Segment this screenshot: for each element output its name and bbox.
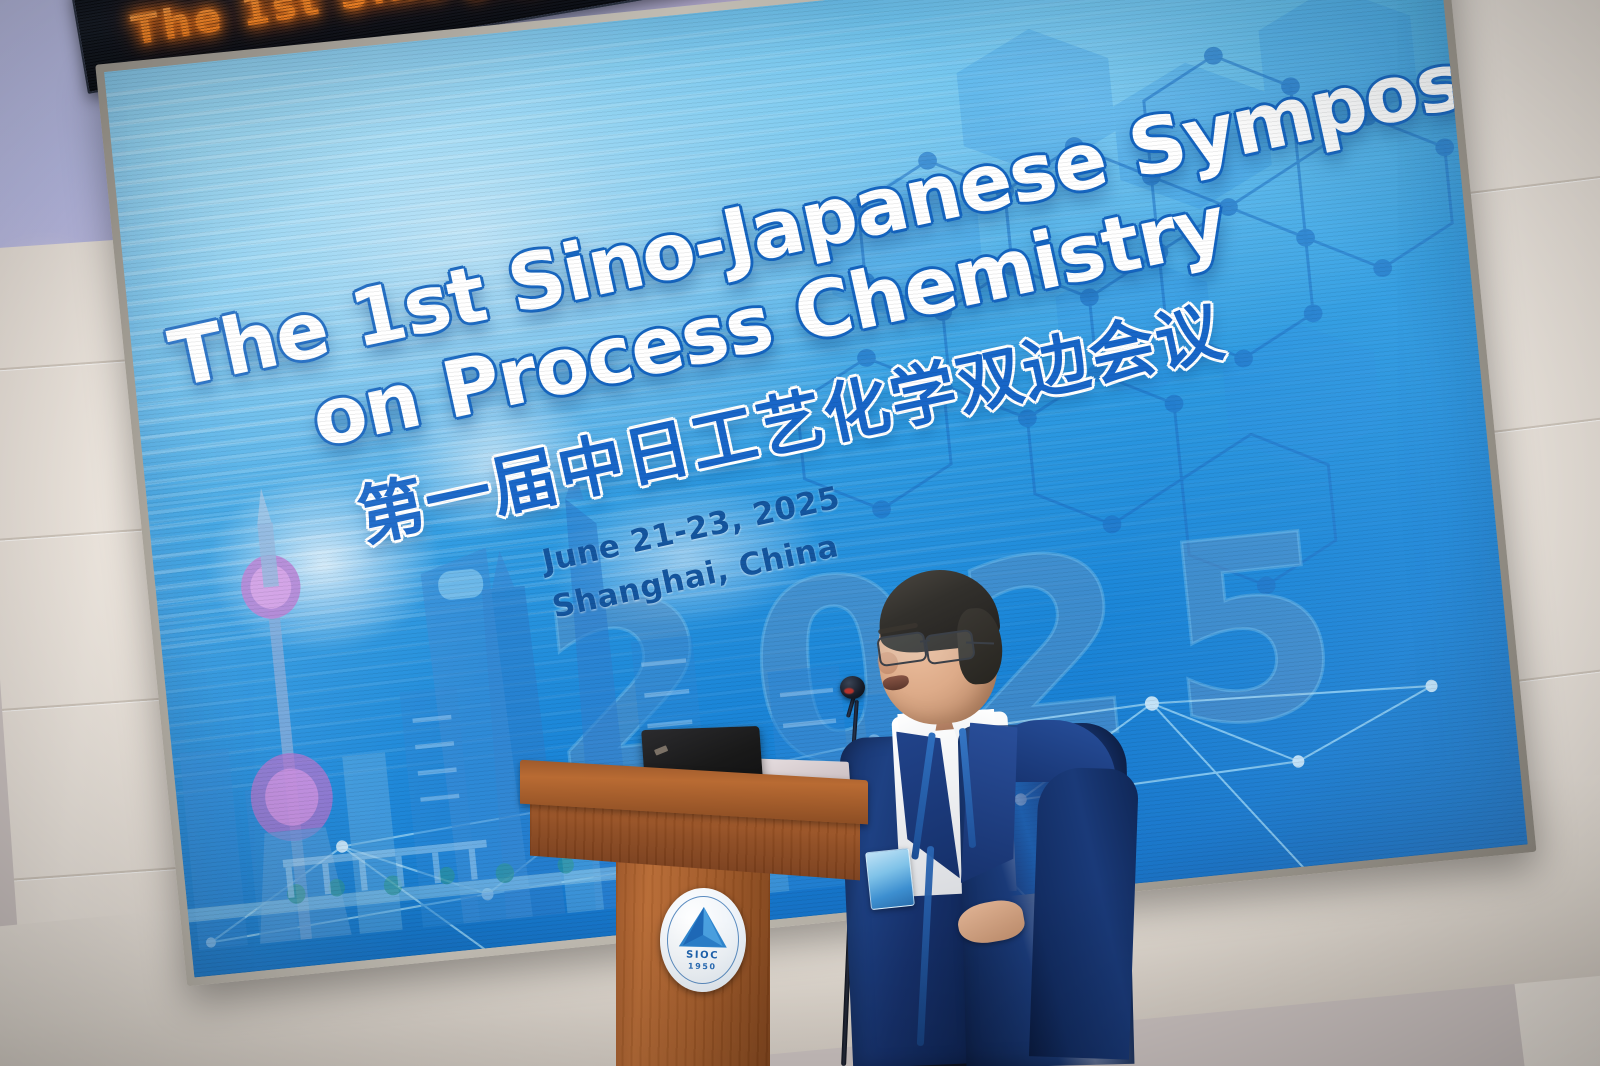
- speaker-person: [838, 572, 1138, 1066]
- delta-triangle-icon: [677, 904, 730, 949]
- podium: SIOC 1950: [520, 770, 880, 1066]
- speaker-arm: [1029, 766, 1139, 1059]
- laptop-logo: [654, 745, 668, 755]
- conference-photo-stage: The 1st Sino-Japanese Symposium on Proce…: [0, 0, 1600, 1066]
